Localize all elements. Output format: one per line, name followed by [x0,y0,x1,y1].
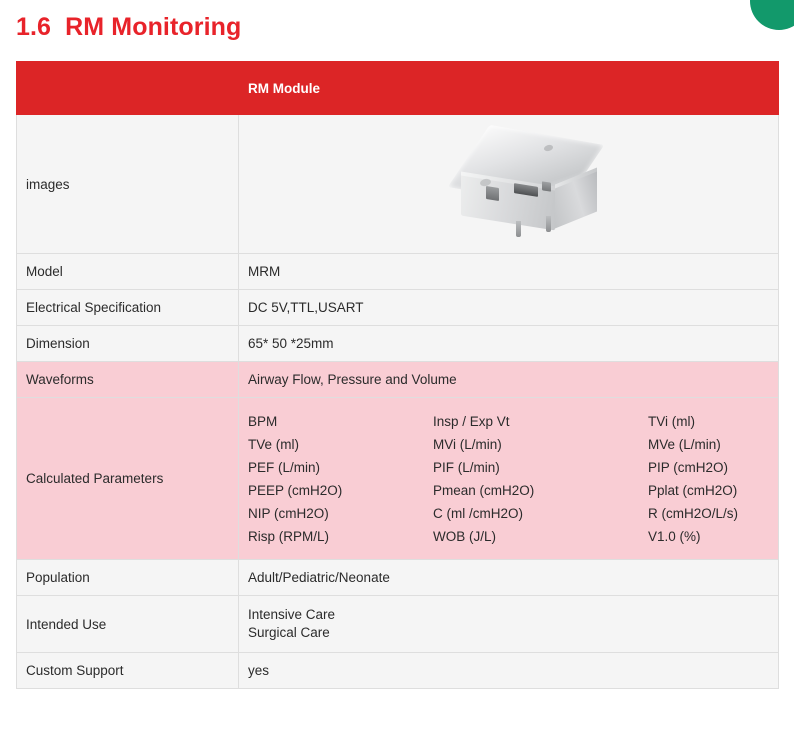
param-item: WOB (J/L) [433,527,648,547]
row-label-calculated-parameters: Calculated Parameters [17,398,239,560]
param-item: PIP (cmH2O) [648,458,770,478]
param-item: PEF (L/min) [248,458,433,478]
row-value-electrical-specification: DC 5V,TTL,USART [239,290,779,326]
row-label-images: images [17,115,239,254]
header-cell-label [17,62,239,115]
row-value-images [239,115,779,254]
row-value-model: MRM [239,254,779,290]
row-label-intended-use: Intended Use [17,596,239,653]
table-row: Population Adult/Pediatric/Neonate [17,560,779,596]
param-item: C (ml /cmH2O) [433,504,648,524]
row-value-custom-support: yes [239,653,779,689]
row-label-population: Population [17,560,239,596]
table-row: Model MRM [17,254,779,290]
param-item: Risp (RPM/L) [248,527,433,547]
page-title: 1.6 RM Monitoring [0,0,794,43]
module-port-2 [546,216,551,232]
param-item: Insp / Exp Vt [433,412,648,432]
param-item: Pmean (cmH2O) [433,481,648,501]
module-box-illustration [456,135,616,235]
module-connector-3 [542,182,551,192]
spec-table-container: RM Module images [16,61,778,689]
param-item: PEEP (cmH2O) [248,481,433,501]
row-value-calculated-parameters: BPM Insp / Exp Vt TVi (ml) TVe (ml) MVi … [239,398,779,560]
row-label-dimension: Dimension [17,326,239,362]
module-connector-1 [486,186,499,201]
row-label-model: Model [17,254,239,290]
row-value-intended-use: Intensive Care Surgical Care [239,596,779,653]
table-row: Dimension 65* 50 *25mm [17,326,779,362]
row-value-dimension: 65* 50 *25mm [239,326,779,362]
row-value-waveforms: Airway Flow, Pressure and Volume [239,362,779,398]
param-item: Pplat (cmH2O) [648,481,770,501]
param-item: BPM [248,412,433,432]
table-row: images [17,115,779,254]
param-item: TVi (ml) [648,412,770,432]
row-label-custom-support: Custom Support [17,653,239,689]
rm-module-spec-table: RM Module images [16,61,779,689]
table-header-row: RM Module [17,62,779,115]
param-item: TVe (ml) [248,435,433,455]
table-row: Waveforms Airway Flow, Pressure and Volu… [17,362,779,398]
param-item: V1.0 (%) [648,527,770,547]
param-item: R (cmH2O/L/s) [648,504,770,524]
module-port-1 [516,221,521,237]
calculated-parameters-grid: BPM Insp / Exp Vt TVi (ml) TVe (ml) MVi … [248,408,770,549]
param-item: NIP (cmH2O) [248,504,433,524]
param-item: PIF (L/min) [433,458,648,478]
table-row: Calculated Parameters BPM Insp / Exp Vt … [17,398,779,560]
header-cell-rm-module: RM Module [239,62,779,115]
row-label-waveforms: Waveforms [17,362,239,398]
table-row: Electrical Specification DC 5V,TTL,USART [17,290,779,326]
table-row: Custom Support yes [17,653,779,689]
param-item: MVi (L/min) [433,435,648,455]
table-row: Intended Use Intensive Care Surgical Car… [17,596,779,653]
param-item: MVe (L/min) [648,435,770,455]
rm-module-photo [248,125,770,243]
row-label-electrical-specification: Electrical Specification [17,290,239,326]
row-value-population: Adult/Pediatric/Neonate [239,560,779,596]
